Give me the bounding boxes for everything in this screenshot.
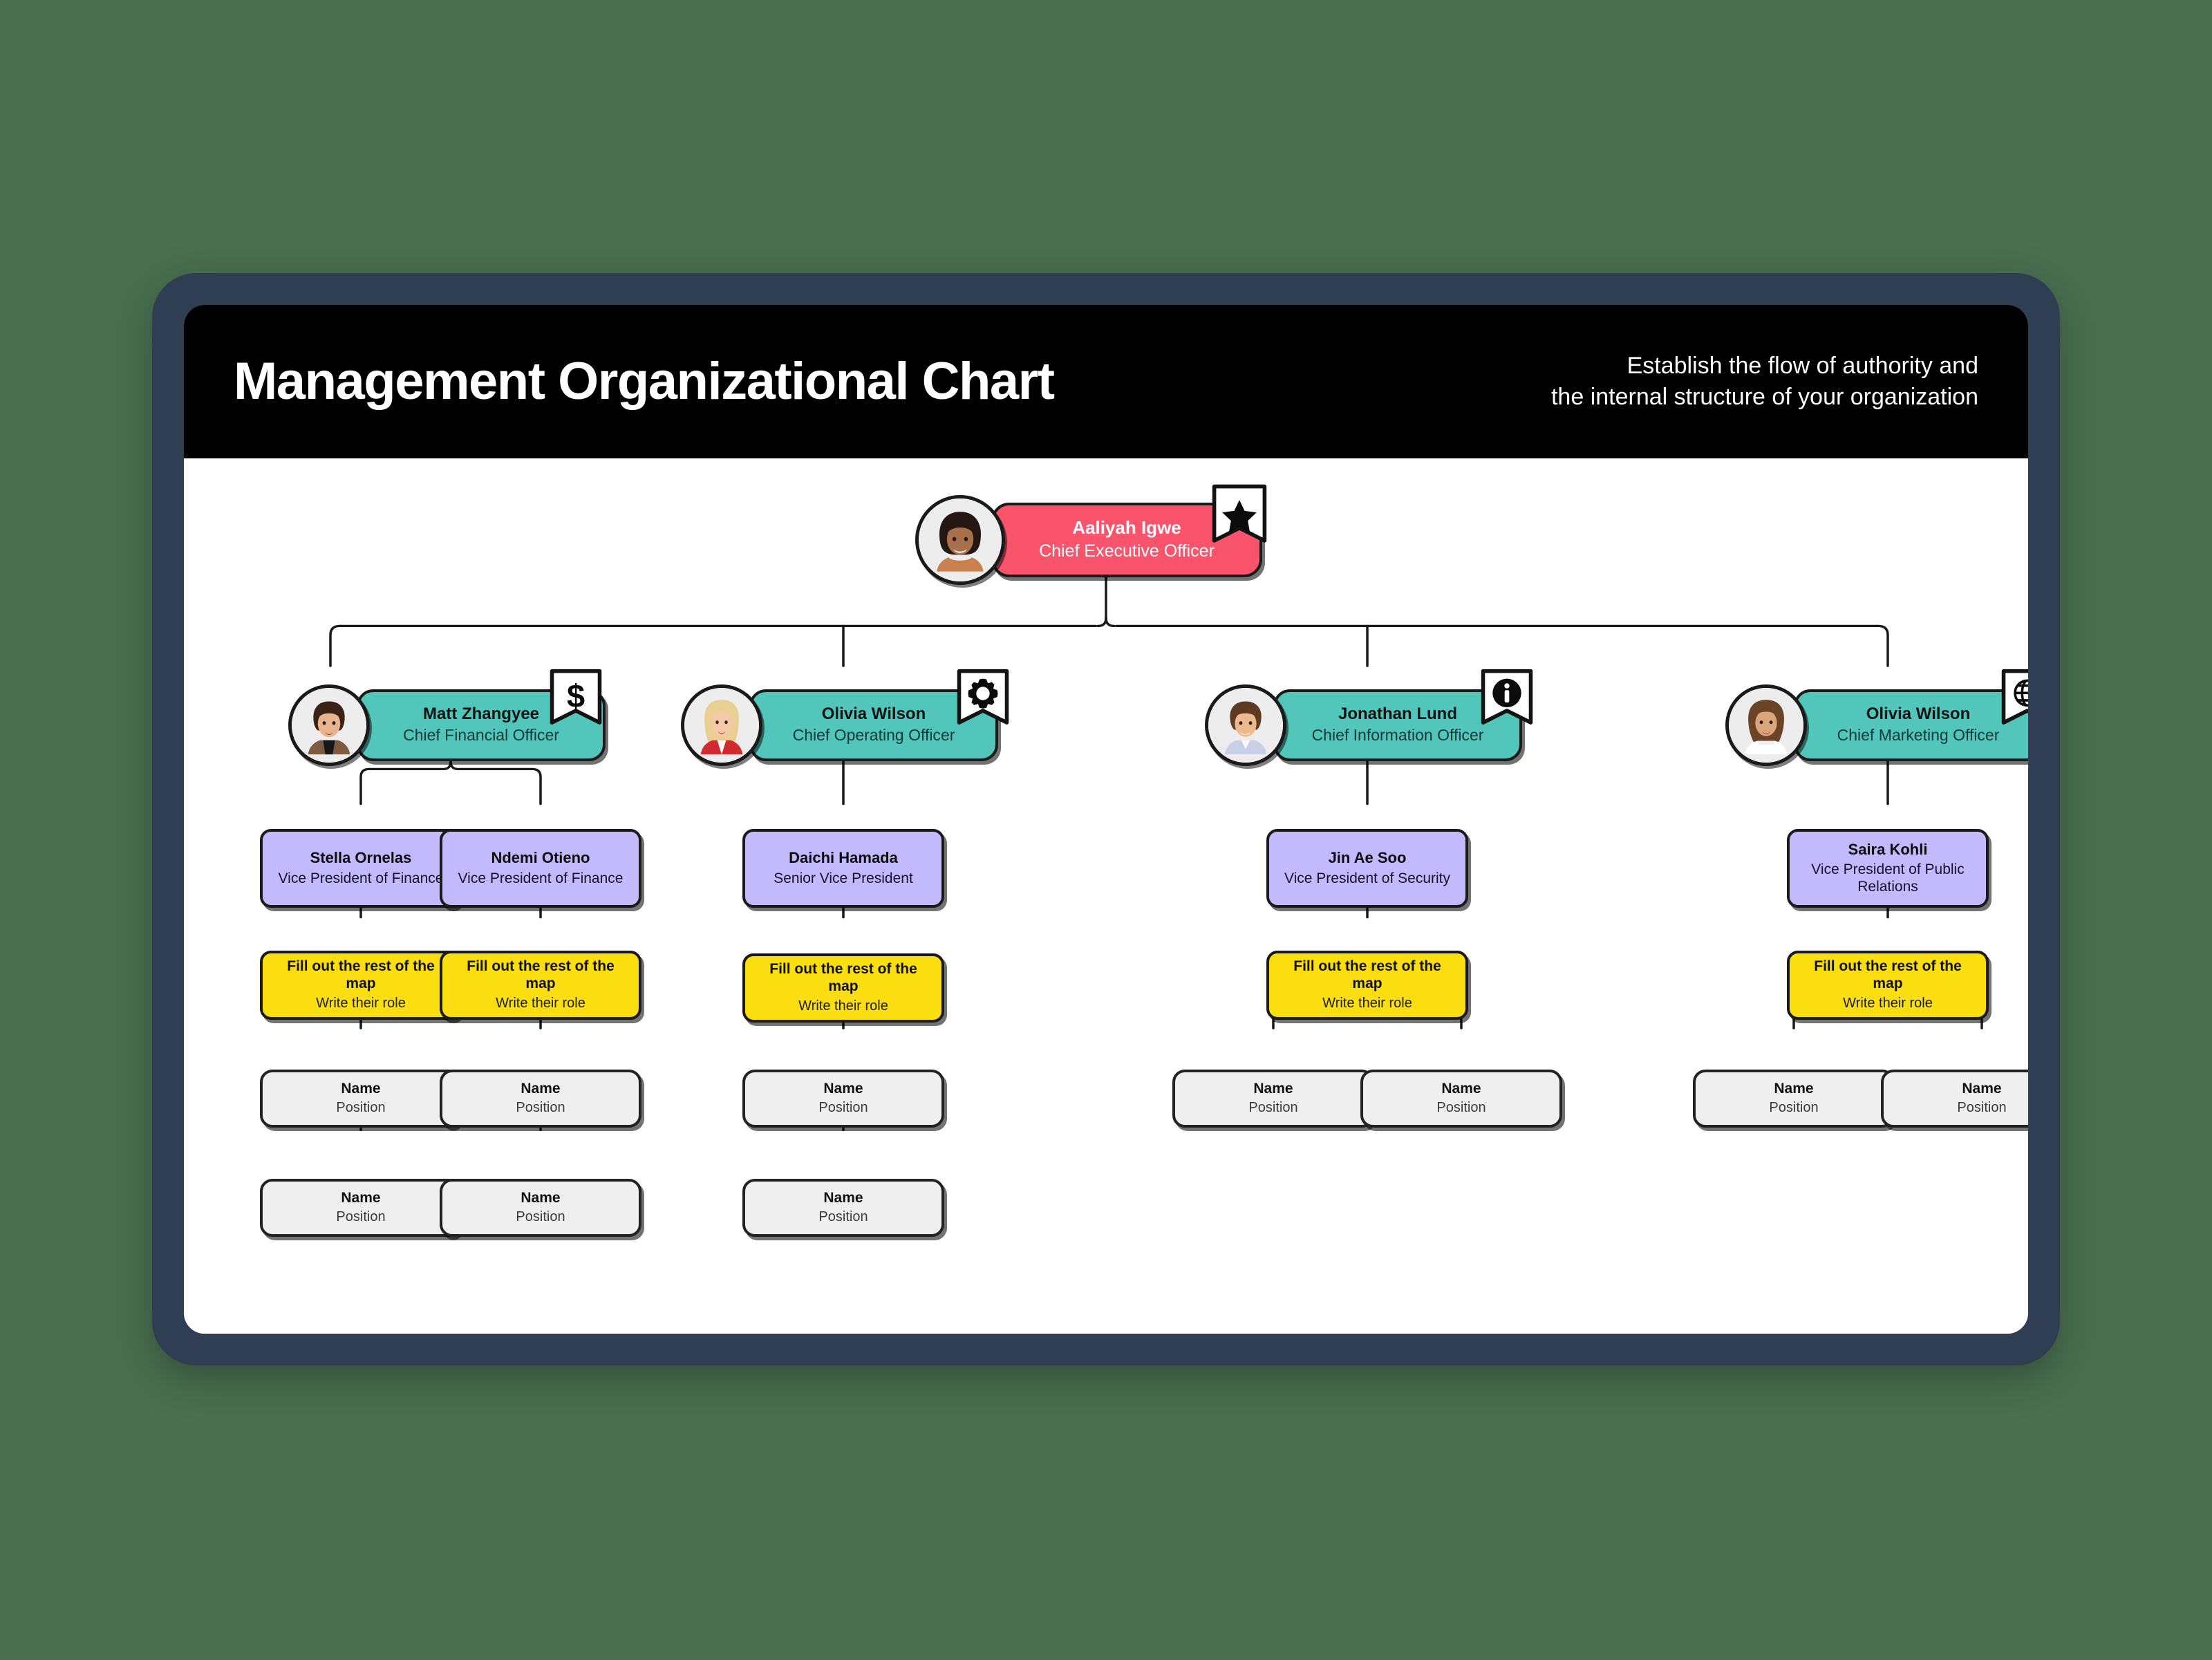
node-vp-name: Jin Ae Soo [1329,849,1407,866]
node-staff-3[interactable]: Name Position [742,1070,944,1128]
avatar-image [292,688,366,763]
gear-badge-shape [955,667,1011,732]
node-staff-9[interactable]: Name Position [440,1179,641,1237]
node-staff-position: Position [1436,1099,1485,1116]
node-vp-name: Saira Kohli [1848,841,1928,858]
org-chart-canvas: Aaliyah Igwe Chief Executive Officer [184,458,2028,1334]
node-placeholder-3[interactable]: Fill out the rest of the map Write their… [742,953,944,1023]
node-vp-ndemi-otieno[interactable]: Ndemi Otieno Vice President of Finance [440,829,641,908]
node-placeholder-2[interactable]: Fill out the rest of the map Write their… [440,951,641,1020]
info-badge-shape [1479,667,1535,732]
node-staff-7[interactable]: Name Position [1881,1070,2028,1128]
node-cmo-position: Chief Marketing Officer [1837,726,2000,745]
node-vp-daichi-hamada[interactable]: Daichi Hamada Senior Vice President [742,829,944,908]
info-icon [1479,667,1535,732]
page-subtitle-line-1: Establish the flow of authority and [1551,351,1978,382]
node-staff-position: Position [336,1209,385,1225]
node-staff-4[interactable]: Name Position [1172,1070,1374,1128]
node-placeholder-name: Fill out the rest of the map [1798,958,1978,991]
device-frame: Management Organizational Chart Establis… [152,273,2060,1365]
node-ceo-position: Chief Executive Officer [1039,541,1215,561]
svg-text:$: $ [567,678,585,714]
node-staff-name: Name [1253,1081,1293,1097]
node-staff-name: Name [1962,1081,2001,1097]
node-vp-position: Vice President of Security [1284,870,1450,887]
node-vp-saira-kohli[interactable]: Saira Kohli Vice President of Public Rel… [1787,829,1989,908]
node-placeholder-1[interactable]: Fill out the rest of the map Write their… [260,951,462,1020]
avatar-image [1208,688,1283,763]
node-staff-position: Position [1248,1099,1297,1116]
node-placeholder-5[interactable]: Fill out the rest of the map Write their… [1787,951,1989,1020]
page-subtitle: Establish the flow of authority and the … [1551,351,1978,413]
avatar-matt-zhangyee [288,684,370,766]
node-cio-name: Jonathan Lund [1338,705,1457,724]
node-staff-1[interactable]: Name Position [260,1070,462,1128]
dollar-icon: $ [548,667,603,732]
node-vp-name: Ndemi Otieno [491,849,590,866]
globe-badge-shape [2000,667,2028,732]
avatar-aaliyah-igwe [915,495,1005,585]
node-placeholder-name: Fill out the rest of the map [271,958,451,991]
node-coo-name: Olivia Wilson [822,705,926,724]
node-vp-position: Vice President of Public Relations [1799,861,1976,895]
node-staff-name: Name [521,1081,560,1097]
node-ceo-name: Aaliyah Igwe [1072,518,1181,539]
node-cmo-name: Olivia Wilson [1866,705,1970,724]
node-cfo-name: Matt Zhangyee [423,705,539,724]
avatar-olivia-wilson-cmo [1725,684,1807,766]
dollar-badge-shape: $ [548,667,603,732]
slide-header: Management Organizational Chart Establis… [184,305,2028,458]
avatar-olivia-wilson-coo [681,684,762,766]
slide-screen: Management Organizational Chart Establis… [184,305,2028,1334]
avatar-jonathan-lund [1205,684,1286,766]
avatar-image [684,688,759,763]
node-staff-name: Name [1774,1081,1813,1097]
node-staff-position: Position [1957,1099,2006,1116]
node-cmo[interactable]: Olivia Wilson Chief Marketing Officer [1794,689,2028,761]
node-staff-8[interactable]: Name Position [260,1179,462,1237]
node-vp-stella-ornelas[interactable]: Stella Ornelas Vice President of Finance [260,829,462,908]
star-icon [1210,483,1268,550]
node-staff-position: Position [516,1099,565,1116]
node-vp-jin-ae-soo[interactable]: Jin Ae Soo Vice President of Security [1266,829,1468,908]
node-cio-position: Chief Information Officer [1312,726,1484,745]
node-staff-position: Position [336,1099,385,1116]
node-placeholder-4[interactable]: Fill out the rest of the map Write their… [1266,951,1468,1020]
page-title: Management Organizational Chart [234,355,1054,408]
node-placeholder-position: Write their role [496,995,585,1011]
node-placeholder-name: Fill out the rest of the map [753,961,933,994]
node-placeholder-position: Write their role [1843,995,1933,1011]
node-coo-position: Chief Operating Officer [793,726,955,745]
gear-icon [955,667,1011,732]
star-badge-shape [1210,483,1268,550]
node-staff-name: Name [521,1190,560,1206]
node-vp-name: Stella Ornelas [310,849,412,866]
node-staff-6[interactable]: Name Position [1693,1070,1895,1128]
node-vp-position: Vice President of Finance [279,870,444,887]
node-staff-position: Position [516,1209,565,1225]
node-staff-2[interactable]: Name Position [440,1070,641,1128]
node-placeholder-name: Fill out the rest of the map [451,958,630,991]
page-subtitle-line-2: the internal structure of your organizat… [1551,382,1978,413]
node-staff-name: Name [1441,1081,1481,1097]
node-placeholder-position: Write their role [1322,995,1412,1011]
avatar-image [919,498,1002,581]
node-staff-name: Name [823,1190,863,1206]
node-vp-name: Daichi Hamada [789,849,898,866]
node-staff-position: Position [818,1099,868,1116]
node-vp-position: Senior Vice President [774,870,913,887]
node-staff-name: Name [823,1081,863,1097]
avatar-image [1729,688,1803,763]
node-staff-position: Position [1769,1099,1818,1116]
node-cfo-position: Chief Financial Officer [403,726,559,745]
node-vp-position: Vice President of Finance [458,870,624,887]
node-staff-10[interactable]: Name Position [742,1179,944,1237]
node-staff-name: Name [341,1081,380,1097]
node-placeholder-name: Fill out the rest of the map [1277,958,1457,991]
node-staff-name: Name [341,1190,380,1206]
node-staff-5[interactable]: Name Position [1360,1070,1562,1128]
globe-icon [2000,667,2028,732]
node-placeholder-position: Write their role [798,998,888,1014]
node-staff-position: Position [818,1209,868,1225]
node-placeholder-position: Write their role [316,995,406,1011]
